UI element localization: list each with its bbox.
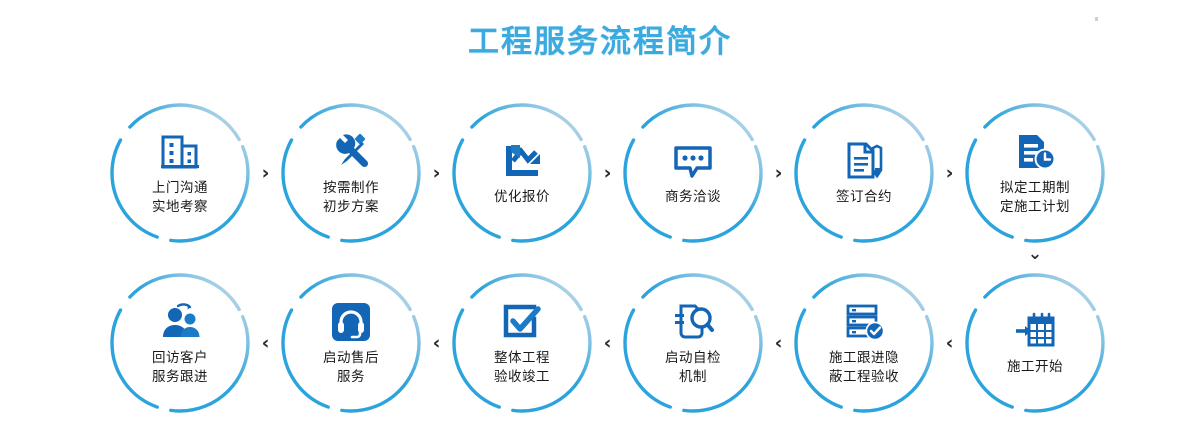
headset-support-icon <box>328 300 374 344</box>
step-content: 启动售后 服务 <box>275 267 427 419</box>
step-label: 优化报价 <box>494 188 550 207</box>
step-content: 回访客户 服务跟进 <box>104 267 256 419</box>
process-step-3[interactable]: 优化报价 <box>446 97 598 249</box>
server-verified-icon <box>841 300 887 344</box>
chevron-right-connector: › <box>426 97 448 249</box>
step-label: 启动自检 机制 <box>665 349 721 387</box>
process-row-2: 回访客户 服务跟进‹ 启动售后 服务‹ 整体工程 验收竣工‹ <box>0 267 1200 427</box>
inspection-magnifier-icon <box>670 300 716 344</box>
page-title: 工程服务流程简介 <box>0 22 1200 62</box>
step-content: 拟定工期制 定施工计划 <box>959 97 1111 249</box>
document-clock-icon <box>1012 130 1058 174</box>
step-content: 施工跟进隐 蔽工程验收 <box>788 267 940 419</box>
step-content: 上门沟通 实地考察 <box>104 97 256 249</box>
step-label: 施工跟进隐 蔽工程验收 <box>829 349 899 387</box>
wrench-screwdriver-icon <box>328 130 374 174</box>
checkbox-approved-icon <box>499 300 545 344</box>
chevron-down-connector: ⌄ <box>1023 243 1047 265</box>
chevron-left-connector: ‹ <box>426 267 448 419</box>
process-step-4[interactable]: 商务洽谈 <box>617 97 769 249</box>
step-label: 签订合约 <box>836 188 892 207</box>
step-label: 商务洽谈 <box>665 188 721 207</box>
step-content: 启动自检 机制 <box>617 267 769 419</box>
step-label: 回访客户 服务跟进 <box>152 349 208 387</box>
process-step-8[interactable]: 施工跟进隐 蔽工程验收 <box>788 267 940 419</box>
calendar-start-icon <box>1012 309 1058 353</box>
process-step-5[interactable]: 签订合约 <box>788 97 940 249</box>
infographic-canvas: 工程服务流程简介 上门沟通 实地考察› <box>0 0 1200 440</box>
chat-bubble-icon <box>670 139 716 183</box>
step-label: 施工开始 <box>1007 358 1063 377</box>
chevron-right-connector: › <box>768 97 790 249</box>
step-label: 上门沟通 实地考察 <box>152 179 208 217</box>
declining-chart-icon <box>499 139 545 183</box>
process-step-1[interactable]: 上门沟通 实地考察 <box>104 97 256 249</box>
step-content: 签订合约 <box>788 97 940 249</box>
chevron-left-connector: ‹ <box>597 267 619 419</box>
chevron-left-connector: ‹ <box>939 267 961 419</box>
step-label: 启动售后 服务 <box>323 349 379 387</box>
step-content: 商务洽谈 <box>617 97 769 249</box>
buildings-icon <box>157 130 203 174</box>
process-step-10[interactable]: 整体工程 验收竣工 <box>446 267 598 419</box>
step-label: 拟定工期制 定施工计划 <box>1000 179 1070 217</box>
step-label: 整体工程 验收竣工 <box>494 349 550 387</box>
chevron-left-connector: ‹ <box>768 267 790 419</box>
step-label: 按需制作 初步方案 <box>323 179 379 217</box>
customers-icon <box>157 300 203 344</box>
chevron-left-connector: ‹ <box>255 267 277 419</box>
step-content: 按需制作 初步方案 <box>275 97 427 249</box>
process-row-1: 上门沟通 实地考察› 按需制作 初步方案› 优化报价› <box>0 97 1200 257</box>
chevron-right-connector: › <box>255 97 277 249</box>
process-step-9[interactable]: 启动自检 机制 <box>617 267 769 419</box>
process-step-11[interactable]: 启动售后 服务 <box>275 267 427 419</box>
contract-pen-icon <box>841 139 887 183</box>
decorative-speck <box>1095 17 1098 21</box>
step-content: 整体工程 验收竣工 <box>446 267 598 419</box>
process-step-2[interactable]: 按需制作 初步方案 <box>275 97 427 249</box>
chevron-right-connector: › <box>939 97 961 249</box>
chevron-right-connector: › <box>597 97 619 249</box>
process-step-6[interactable]: 拟定工期制 定施工计划 <box>959 97 1111 249</box>
step-content: 施工开始 <box>959 267 1111 419</box>
step-content: 优化报价 <box>446 97 598 249</box>
process-step-12[interactable]: 回访客户 服务跟进 <box>104 267 256 419</box>
process-step-7[interactable]: 施工开始 <box>959 267 1111 419</box>
